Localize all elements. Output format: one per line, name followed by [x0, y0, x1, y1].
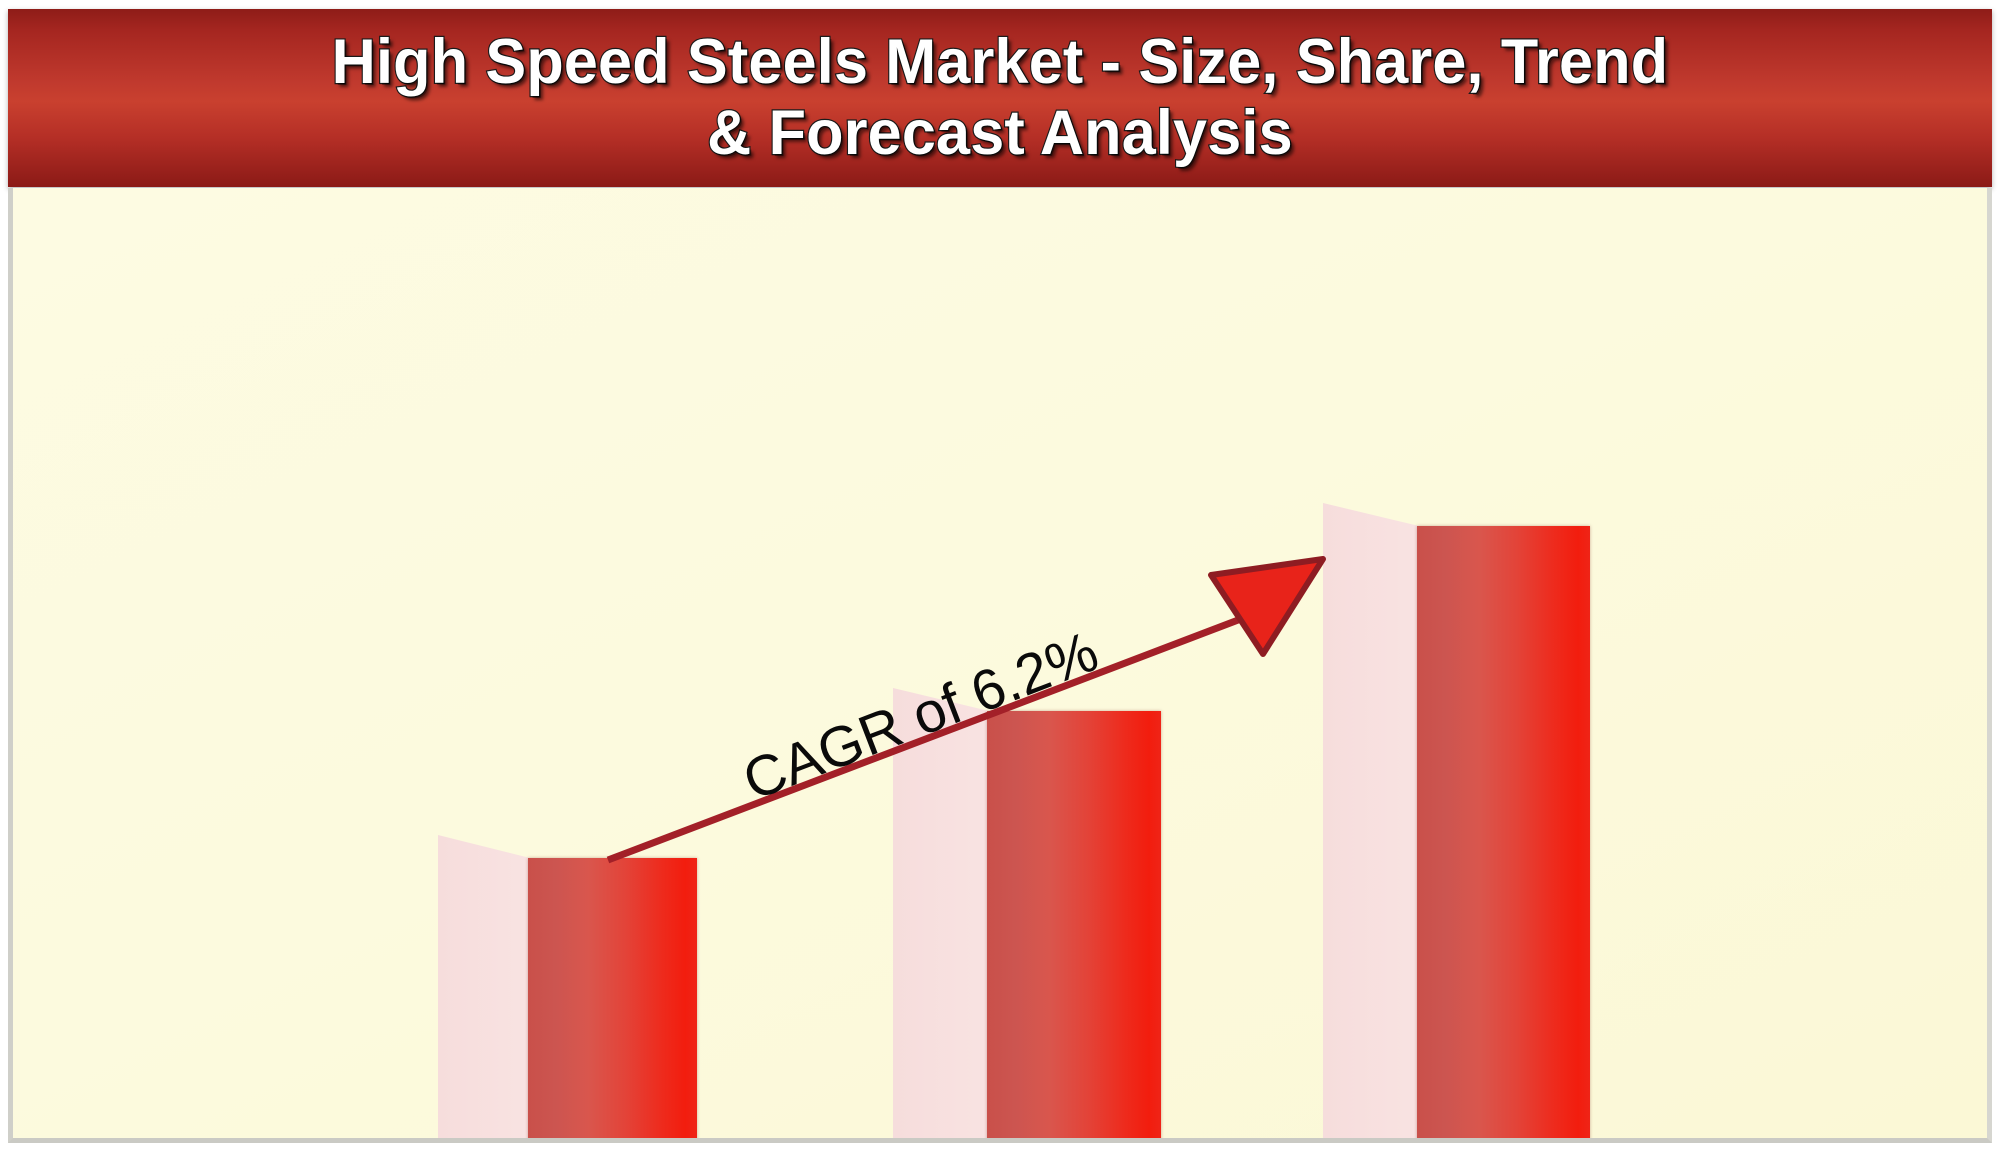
bar-front-face-2020	[528, 858, 697, 1143]
bar-side-face-2025	[1323, 503, 1419, 1143]
title-banner: High Speed Steels Market - Size, Share, …	[8, 9, 1992, 187]
bar-front-face-2025	[1417, 526, 1590, 1143]
chart-canvas: CAGR of 6.2% 2020 2023 2025	[8, 188, 1992, 1143]
cagr-arrowhead-icon	[1211, 559, 1323, 654]
bar-side-face-2020	[438, 835, 530, 1143]
infographic-root: High Speed Steels Market - Size, Share, …	[0, 0, 2000, 1151]
chart-plot-inner: CAGR of 6.2% 2020 2023 2025	[13, 188, 1987, 1138]
bar-front-face-2023	[987, 711, 1161, 1143]
page-title: High Speed Steels Market - Size, Share, …	[306, 27, 1693, 168]
